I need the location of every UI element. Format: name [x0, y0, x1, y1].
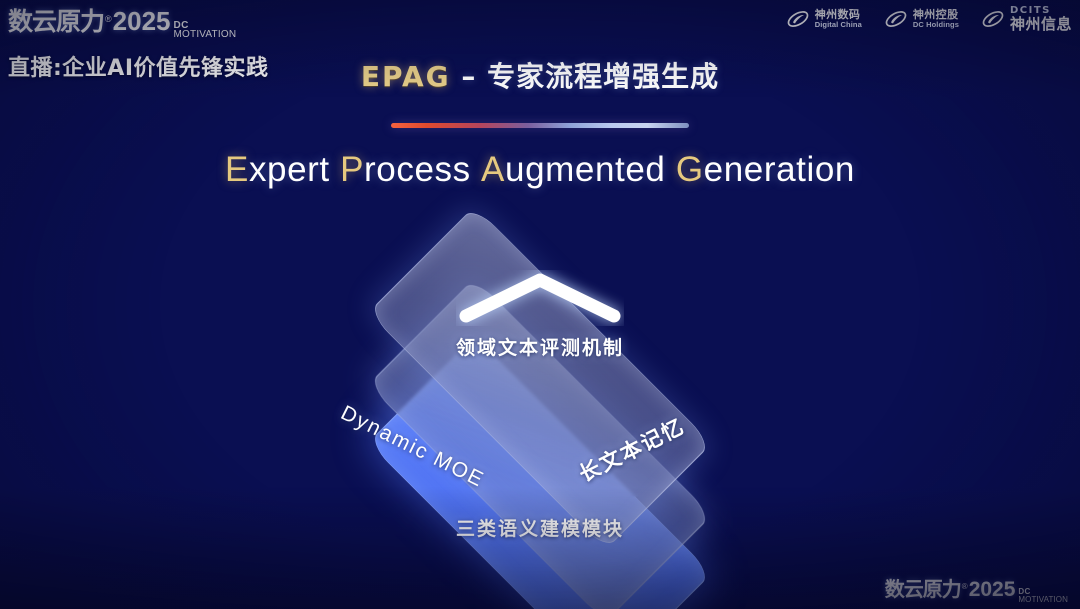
subtitle-rest-3: ugmented — [505, 150, 665, 189]
registered-mark: ® — [105, 14, 112, 24]
watermark-year: 2025 — [969, 578, 1016, 602]
subtitle-cap-1: E — [225, 150, 249, 189]
gradient-divider — [391, 123, 689, 128]
partner-logo-dc-holdings: 神州控股 DC Holdings — [884, 7, 959, 31]
page-title-acronym: EPAG — [361, 60, 451, 93]
partner-name-en: Digital China — [815, 21, 862, 29]
layered-architecture-diagram: 领域文本评测机制 Dynamic MOE 长文本记忆 三类语义建模模块 — [280, 228, 800, 558]
brand-subtitle-line2: MOTIVATION — [174, 30, 237, 39]
page-title: EPAG – 专家流程增强生成 — [0, 55, 1080, 95]
subtitle-space-3 — [665, 150, 675, 189]
page-title-separator: – — [451, 60, 488, 93]
swirl-logo-icon — [786, 7, 810, 31]
partner-logo-dcits: DCITS 神州信息 — [981, 6, 1072, 32]
subtitle-space-2 — [471, 150, 481, 189]
partner-logo-text: 神州控股 DC Holdings — [913, 9, 959, 28]
swirl-logo-icon — [981, 7, 1005, 31]
partner-name-cn: 神州信息 — [1010, 17, 1072, 33]
page-subtitle: Expert Process Augmented Generation — [0, 150, 1080, 190]
subtitle-rest-2: rocess — [364, 150, 471, 189]
partner-name-en: DCITS — [1010, 6, 1072, 17]
brand-name-cn: 数云原力 — [8, 2, 104, 38]
partner-name-en: DC Holdings — [913, 21, 959, 29]
slide-canvas: 数云原力®2025 DC MOTIVATION 直播:企业AI价值先锋实践 神州… — [0, 0, 1080, 609]
page-title-chinese: 专家流程增强生成 — [487, 60, 719, 93]
watermark-subtitle-line2: MOTIVATION — [1018, 596, 1068, 603]
watermark-name-cn: 数云原力 — [885, 573, 961, 602]
watermark-subtitle: DC MOTIVATION — [1018, 588, 1068, 603]
partner-logo-text: 神州数码 Digital China — [815, 9, 862, 28]
brand-subtitle: DC MOTIVATION — [174, 21, 237, 39]
brand-logo: 数云原力®2025 DC MOTIVATION — [8, 2, 236, 41]
subtitle-cap-2: P — [340, 150, 364, 189]
partner-logo-group: 神州数码 Digital China 神州控股 DC Holdings DCIT… — [786, 6, 1072, 32]
subtitle-rest-1: xpert — [249, 150, 330, 189]
watermark-logo: 数云原力®2025 DC MOTIVATION — [885, 573, 1068, 605]
subtitle-space-1 — [330, 150, 340, 189]
partner-logo-text: DCITS 神州信息 — [1010, 6, 1072, 32]
watermark-registered-mark: ® — [962, 582, 968, 591]
subtitle-rest-4: eneration — [704, 150, 855, 189]
subtitle-cap-4: G — [676, 150, 704, 189]
swirl-logo-icon — [884, 7, 908, 31]
partner-logo-digital-china: 神州数码 Digital China — [786, 7, 862, 31]
subtitle-cap-3: A — [481, 150, 505, 189]
brand-year: 2025 — [113, 6, 171, 37]
